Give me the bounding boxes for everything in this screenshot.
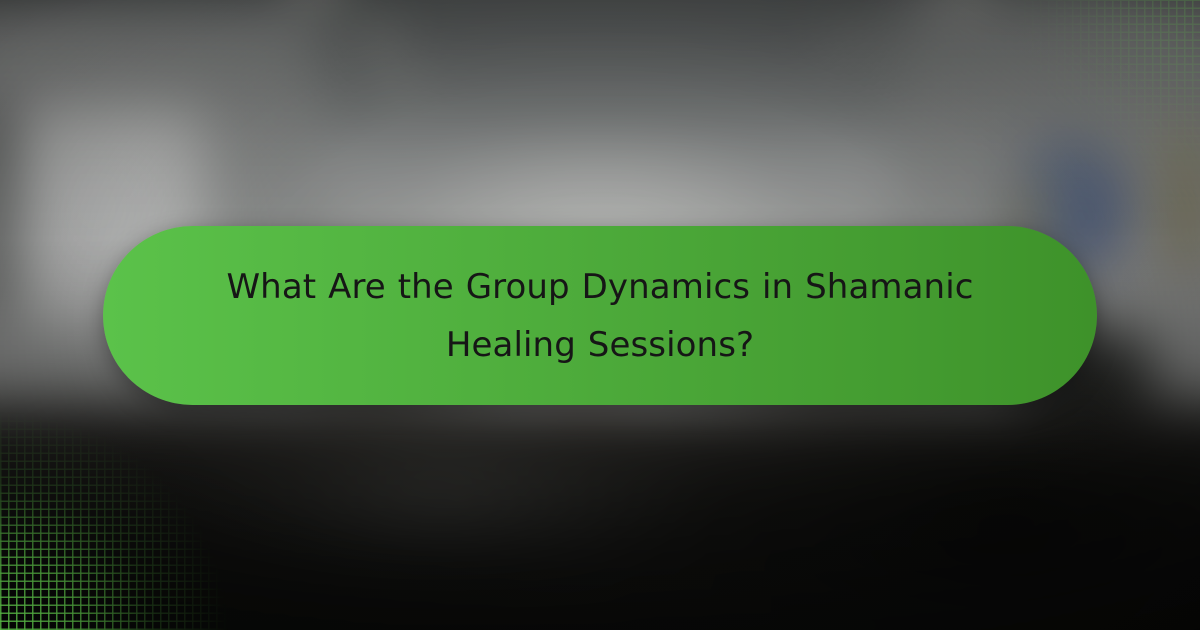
headline-line-1: What Are the Group Dynamics in Shamanic bbox=[190, 258, 1010, 316]
headline-line-2: Healing Sessions? bbox=[190, 316, 1010, 374]
page-title: What Are the Group Dynamics in Shamanic … bbox=[190, 258, 1010, 374]
headline-pill: What Are the Group Dynamics in Shamanic … bbox=[103, 226, 1097, 405]
social-share-banner: What Are the Group Dynamics in Shamanic … bbox=[0, 0, 1200, 630]
